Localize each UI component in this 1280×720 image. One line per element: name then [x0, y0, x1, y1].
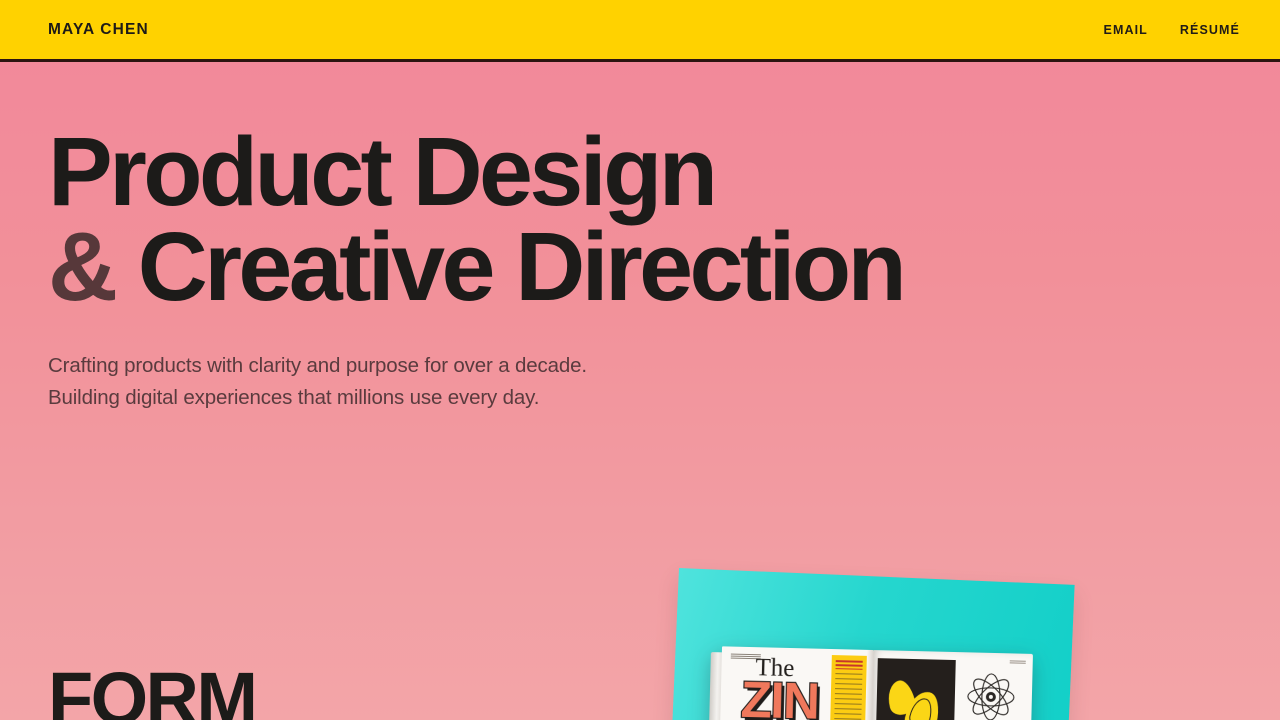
atom-diagram-icon	[964, 670, 1017, 720]
hero-subhead: Crafting products with clarity and purpo…	[48, 350, 1280, 415]
hero-section: Product Design & Creative Direction Craf…	[0, 62, 1280, 415]
hero-photo: The ZIN	[673, 556, 1083, 720]
sidebar-body-lines	[834, 673, 863, 720]
brand-logo[interactable]: MAYA CHEN	[48, 21, 149, 39]
main-nav: EMAIL RÉSUMÉ	[1104, 23, 1240, 37]
sidebar-heading-lines	[836, 660, 863, 670]
section-title-form: FORM	[48, 662, 255, 720]
headline-ampersand: &	[48, 212, 114, 321]
black-art-panel	[875, 658, 955, 720]
nav-link-resume[interactable]: RÉSUMÉ	[1180, 23, 1240, 37]
magazine-masthead: ZIN	[740, 674, 819, 720]
headline-line-2: Creative Direction	[114, 212, 903, 321]
magazine-left-page: The ZIN	[719, 646, 874, 720]
page-root: MAYA CHEN EMAIL RÉSUMÉ Product Design & …	[0, 0, 1280, 720]
subhead-line-1: Crafting products with clarity and purpo…	[48, 354, 587, 377]
subhead-line-2: Building digital experiences that millio…	[48, 386, 539, 409]
nav-link-email[interactable]: EMAIL	[1104, 23, 1148, 37]
page-folio-lines	[1010, 660, 1026, 664]
left-page-yellow-sidebar	[829, 655, 866, 720]
headline-line-1: Product Design	[48, 117, 714, 226]
page-title: Product Design & Creative Direction	[48, 124, 1280, 314]
site-header: MAYA CHEN EMAIL RÉSUMÉ	[0, 0, 1280, 62]
open-magazine: The ZIN	[708, 646, 1033, 720]
magazine-right-page	[871, 650, 1033, 720]
